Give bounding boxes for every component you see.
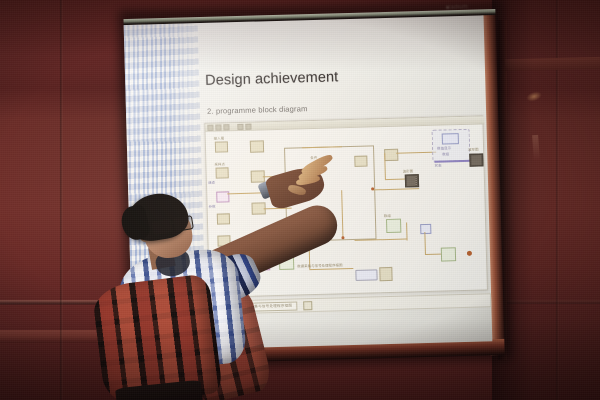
lecture-room-photo: Radium Design achievement 2. programme b…	[0, 0, 600, 400]
photo-vignette	[0, 0, 600, 400]
